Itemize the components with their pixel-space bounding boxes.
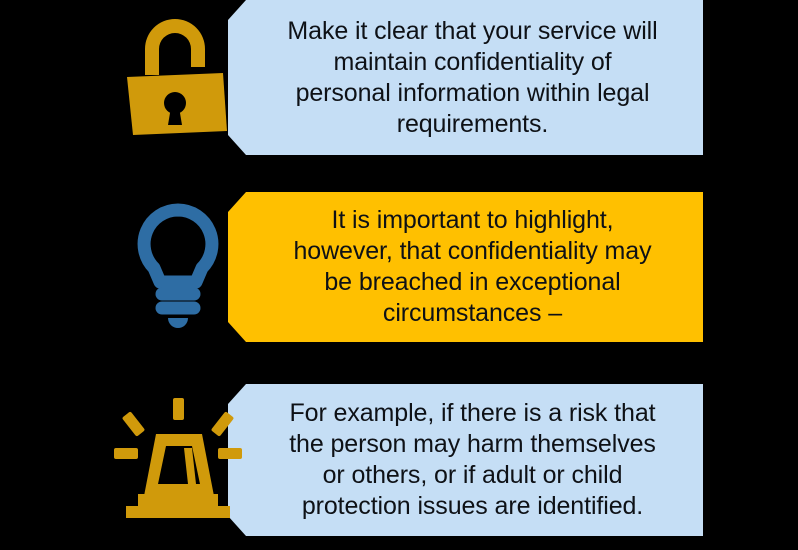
diagram-canvas: Make it clear that your service will mai… [0,0,798,550]
panel-confidentiality: Make it clear that your service will mai… [0,0,798,155]
panel-example-risk: For example, if there is a risk that the… [0,384,798,536]
banner-example-risk: For example, if there is a risk that the… [228,384,703,536]
banner-text-confidentiality: Make it clear that your service will mai… [287,16,657,140]
banner-text-exceptions: It is important to highlight, however, t… [293,205,651,329]
alarm-siren-icon [108,384,248,536]
banner-confidentiality: Make it clear that your service will mai… [228,0,703,155]
lightbulb-icon [108,192,248,342]
banner-text-example-risk: For example, if there is a risk that the… [289,398,656,522]
panel-exceptions: It is important to highlight, however, t… [0,192,798,342]
banner-exceptions: It is important to highlight, however, t… [228,192,703,342]
padlock-icon [108,0,248,155]
